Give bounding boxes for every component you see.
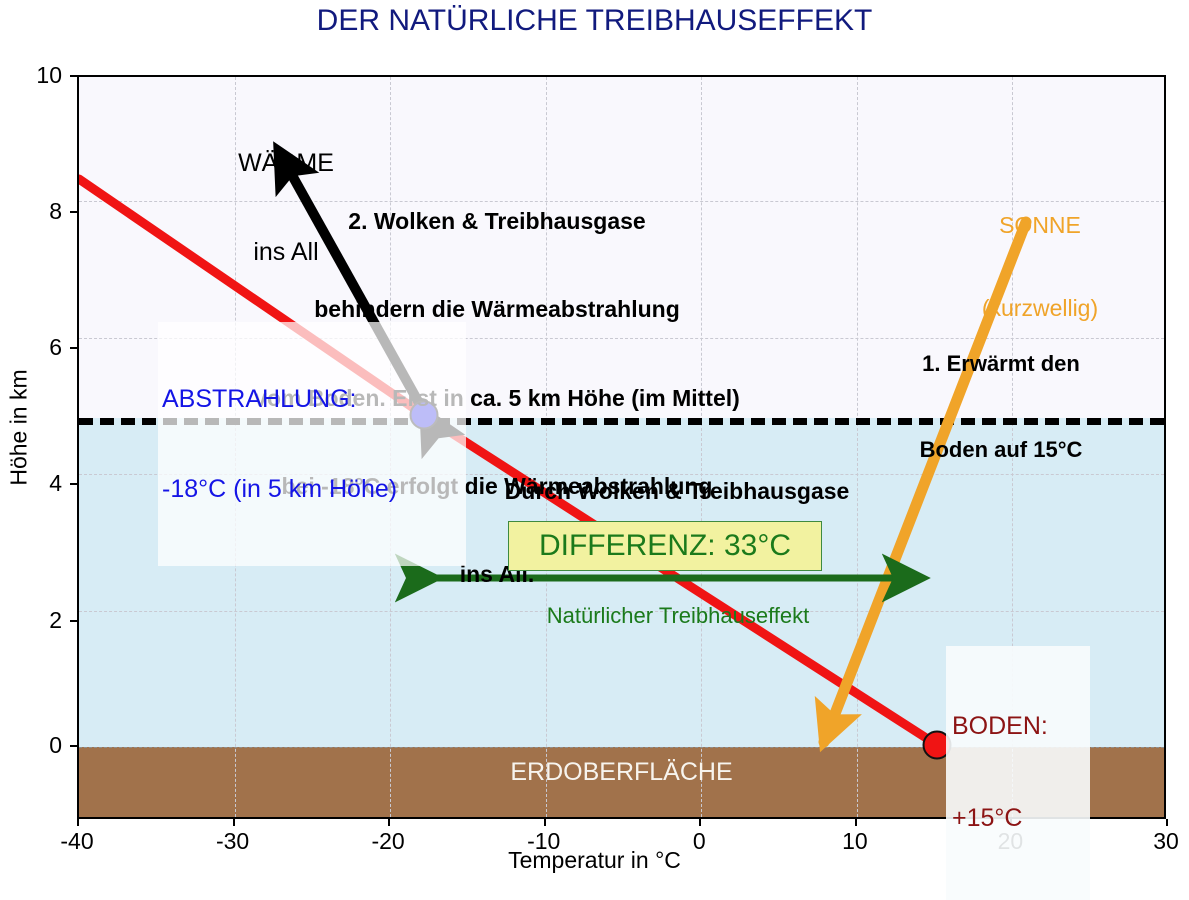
x-tick--20 [388, 819, 390, 826]
sun-label-line1: SONNE [940, 212, 1140, 240]
y-tick-label: 10 [14, 62, 62, 89]
x-tick--10 [544, 819, 546, 826]
emission-label: ABSTRAHLUNG: -18°C (in 5 km Höhe) [158, 322, 466, 566]
page-title: DER NATÜRLICHE TREIBHAUSEFFEKT [0, 4, 1189, 38]
x-tick-0 [699, 819, 701, 826]
y-tick-2 [70, 620, 77, 622]
y-axis-title: Höhe in km [6, 248, 33, 608]
step1-line-1: 1. Erwärmt den [884, 350, 1118, 379]
y-tick-label: 0 [14, 732, 62, 759]
through-clouds-label: Durch Wolken & Treibhausgase [452, 478, 902, 505]
x-tick-30 [1166, 819, 1168, 826]
x-tick--40 [77, 819, 79, 826]
y-tick-label: 2 [14, 607, 62, 634]
step1-explanation: 1. Erwärmt den Boden auf 15°C [884, 293, 1118, 522]
y-tick-8 [70, 211, 77, 213]
y-tick-label: 8 [14, 198, 62, 225]
difference-badge: DIFFERENZ: 33°C [508, 521, 822, 571]
natural-greenhouse-label: Natürlicher Treibhauseffekt [453, 603, 903, 629]
emission-label-line2: -18°C (in 5 km Höhe) [162, 474, 462, 504]
step1-line-2: Boden auf 15°C [884, 436, 1118, 465]
gridline-vertical [857, 77, 858, 817]
step2-line-1: 2. Wolken & Treibhausgase [182, 207, 812, 236]
y-tick-10 [70, 75, 77, 77]
greenhouse-effect-diagram: DER NATÜRLICHE TREIBHAUSEFFEKT ERDOBERFL… [0, 0, 1189, 890]
step2-line-2: behindern die Wärmeabstrahlung [182, 295, 812, 324]
y-tick-6 [70, 347, 77, 349]
surface-temperature-label: BODEN: +15°C [946, 646, 1090, 900]
emission-label-line1: ABSTRAHLUNG: [162, 384, 462, 414]
surface-label-line1: BODEN: [952, 711, 1084, 742]
x-tick--30 [233, 819, 235, 826]
y-tick-0 [70, 745, 77, 747]
y-tick-4 [70, 483, 77, 485]
surface-label-line2: +15°C [952, 803, 1084, 834]
x-tick-10 [855, 819, 857, 826]
